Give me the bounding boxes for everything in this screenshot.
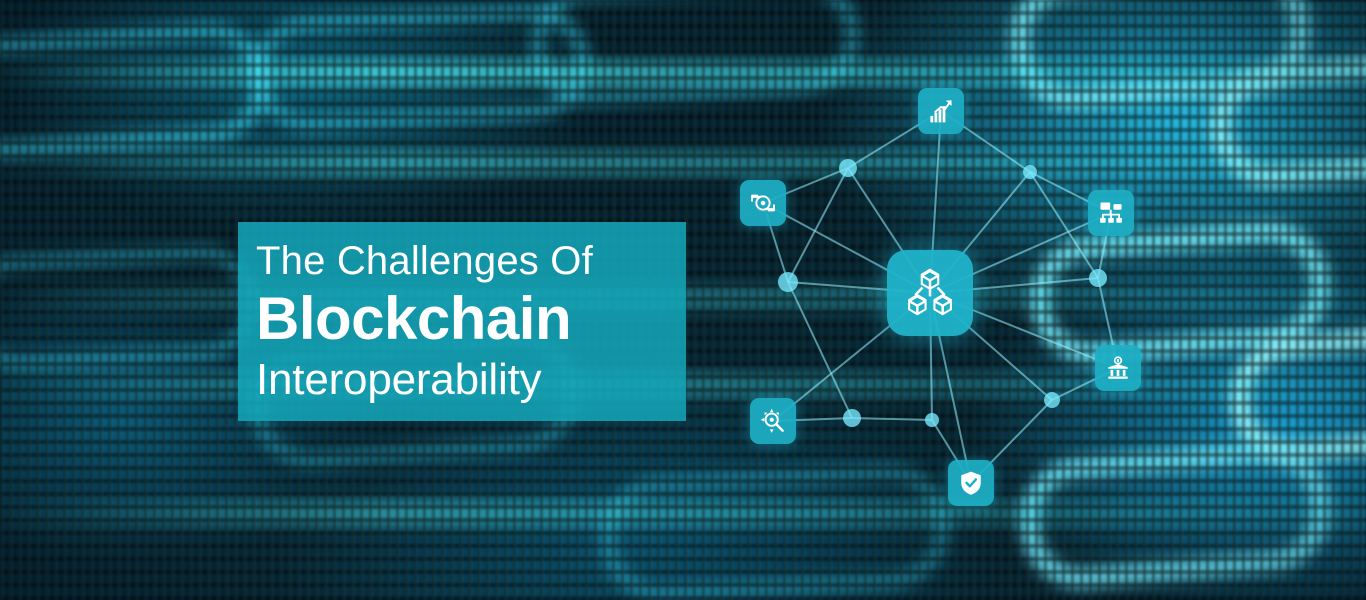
- coin-search-icon[interactable]: [750, 398, 796, 444]
- shield-check-glyph: [958, 470, 984, 496]
- network-server-icon[interactable]: [1088, 190, 1134, 236]
- bank-building-icon[interactable]: [1095, 345, 1141, 391]
- headline-line-2: Blockchain: [256, 286, 668, 352]
- hero-banner: The Challenges Of Blockchain Interoperab…: [0, 0, 1366, 600]
- coin-search-glyph: [759, 407, 787, 435]
- growth-chart-glyph: [928, 98, 954, 124]
- headline-line-1: The Challenges Of: [256, 236, 668, 286]
- network-server-glyph: [1098, 200, 1124, 226]
- headline-panel: The Challenges Of Blockchain Interoperab…: [238, 222, 686, 421]
- bank-building-glyph: [1106, 356, 1130, 380]
- shield-check-icon[interactable]: [948, 460, 994, 506]
- headline-line-3: Interoperability: [256, 352, 668, 408]
- blockchain-cubes-icon[interactable]: [887, 250, 973, 336]
- growth-chart-icon[interactable]: [918, 88, 964, 134]
- blockchain-cubes-glyph: [903, 266, 957, 320]
- blockchain-network-diagram: [700, 60, 1180, 540]
- coin-exchange-glyph: [749, 189, 777, 217]
- coin-exchange-icon[interactable]: [740, 180, 786, 226]
